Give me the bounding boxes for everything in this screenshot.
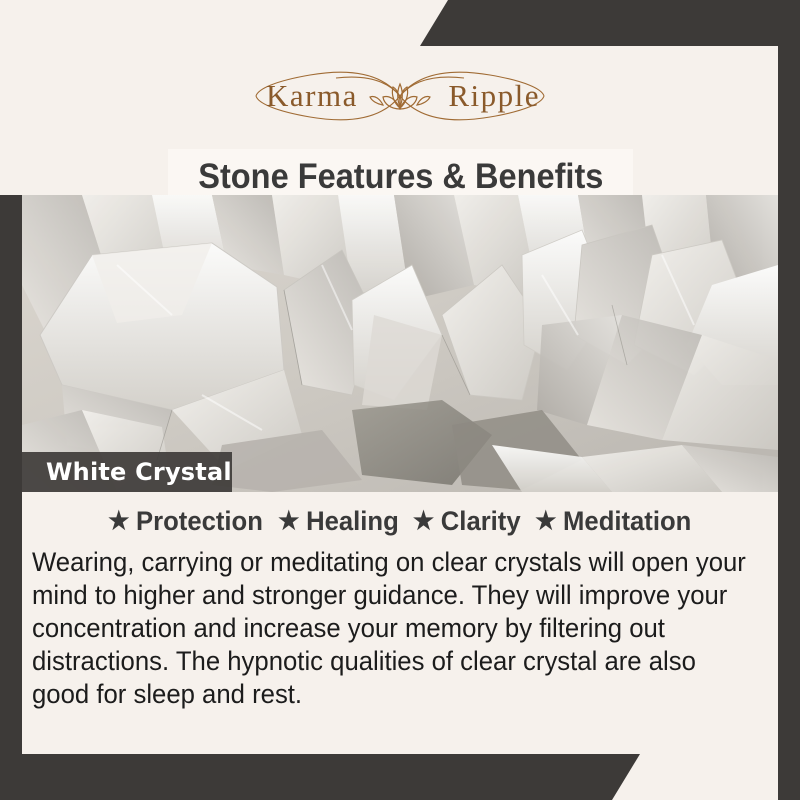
frame-top-accent <box>420 0 800 46</box>
brand-name-left: Karma <box>266 78 358 114</box>
frame-bottom-accent <box>0 754 640 800</box>
frame-left-accent <box>0 195 22 800</box>
page-title: Stone Features & Benefits <box>198 157 603 197</box>
benefit-label: Healing <box>306 506 399 537</box>
benefits-row: ★ Protection ★ Healing ★ Clarity ★ Medit… <box>22 501 778 541</box>
benefit-item: ★ Clarity <box>413 506 521 537</box>
brand-name-right: Ripple <box>448 78 540 114</box>
description-text: Wearing, carrying or meditating on clear… <box>32 546 746 711</box>
star-icon: ★ <box>413 509 434 534</box>
content-card: Karma Ripple Stone Features & Benefits <box>22 46 778 754</box>
stone-name-label: White Crystal <box>22 452 232 492</box>
benefit-label: Protection <box>136 506 263 537</box>
brand-logo: Karma Ripple <box>22 46 778 146</box>
poster: Karma Ripple Stone Features & Benefits <box>0 0 800 800</box>
description-block: Wearing, carrying or meditating on clear… <box>32 546 746 711</box>
benefit-item: ★ Meditation <box>536 506 692 537</box>
star-icon: ★ <box>278 509 299 534</box>
benefit-item: ★ Healing <box>278 506 399 537</box>
frame-right-accent <box>778 46 800 800</box>
star-icon: ★ <box>108 509 129 534</box>
benefit-item: ★ Protection <box>108 506 263 537</box>
star-icon: ★ <box>536 509 557 534</box>
crystal-cluster-illustration <box>22 195 778 492</box>
benefit-label: Clarity <box>441 506 521 537</box>
stone-name-text: White Crystal <box>46 458 232 486</box>
hero-image: White Crystal <box>22 195 778 492</box>
benefit-label: Meditation <box>564 506 692 537</box>
